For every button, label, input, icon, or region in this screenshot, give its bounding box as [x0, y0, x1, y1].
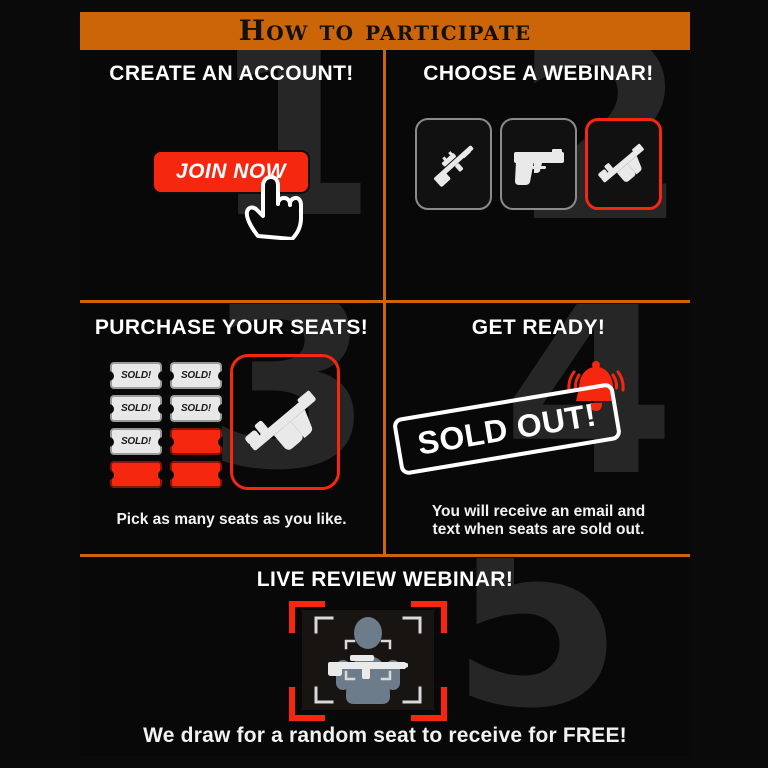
- infographic-poster: How to participate 1 CREATE AN ACCOUNT! …: [0, 0, 768, 768]
- step-caption-live-review-webinar: We draw for a random seat to receive for…: [80, 723, 690, 748]
- ticket-notch-left: [109, 371, 114, 381]
- ticket-notch-right: [218, 404, 223, 414]
- step-title-purchase-seats: PURCHASE YOUR SEATS!: [80, 316, 383, 340]
- ticket-label: SOLD!: [121, 370, 151, 381]
- step-panel-purchase-seats: 3 PURCHASE YOUR SEATS! SOLD! SOLD! SOLD!: [80, 304, 383, 554]
- ticket-notch-left: [169, 437, 174, 447]
- ticket-notch-right: [158, 371, 163, 381]
- step-title-get-ready: GET READY!: [387, 316, 690, 340]
- step-title-choose-webinar: CHOOSE A WEBINAR!: [387, 62, 690, 86]
- step-caption-get-ready-line-2: text when seats are sold out.: [387, 521, 690, 540]
- assault-rifle-icon: [237, 374, 333, 470]
- webinar-option-list: [415, 118, 663, 210]
- divider-horizontal-1: [80, 300, 690, 303]
- assault-rifle-icon: [593, 133, 655, 195]
- ticket-notch-right: [158, 404, 163, 414]
- pistol-icon: [508, 140, 570, 188]
- ticket-label: SOLD!: [121, 403, 151, 414]
- ticket-notch-right: [218, 437, 223, 447]
- ticket-sold[interactable]: SOLD!: [170, 362, 222, 389]
- sold-out-stamp: SOLD OUT!: [392, 382, 623, 476]
- webinar-option-assault-rifle[interactable]: [585, 118, 662, 210]
- ticket-grid: SOLD! SOLD! SOLD! SOLD!: [110, 362, 222, 488]
- ticket-notch-left: [169, 470, 174, 480]
- ticket-sold[interactable]: SOLD!: [170, 395, 222, 422]
- ticket-notch-right: [218, 371, 223, 381]
- ticket-available[interactable]: [170, 461, 222, 488]
- ticket-notch-right: [218, 470, 223, 480]
- ticket-notch-left: [109, 437, 114, 447]
- page-title: How to participate: [239, 17, 532, 45]
- pointing-hand-cursor-icon: [244, 174, 306, 240]
- ticket-sold[interactable]: SOLD!: [110, 395, 162, 422]
- step-title-live-review-webinar: LIVE REVIEW WEBINAR!: [80, 568, 690, 592]
- ticket-notch-left: [109, 470, 114, 480]
- step-panel-live-review-webinar: 5 LIVE REVIEW WEBINAR!: [80, 558, 690, 756]
- step-panel-choose-webinar: 2 CHOOSE A WEBINAR!: [387, 50, 690, 300]
- step-caption-purchase-seats: Pick as many seats as you like.: [80, 511, 383, 530]
- divider-horizontal-2: [80, 554, 690, 557]
- ticket-notch-right: [158, 437, 163, 447]
- ticket-sold[interactable]: SOLD!: [110, 362, 162, 389]
- step-caption-get-ready-line-1: You will receive an email and: [387, 503, 690, 522]
- ticket-notch-left: [169, 371, 174, 381]
- sold-out-label: SOLD OUT!: [415, 396, 599, 462]
- step-panel-create-account: 1 CREATE AN ACCOUNT! JOIN NOW: [80, 50, 383, 300]
- ticket-available[interactable]: [110, 461, 162, 488]
- ticket-sold[interactable]: SOLD!: [110, 428, 162, 455]
- ticket-label: SOLD!: [181, 403, 211, 414]
- sniper-rifle-icon: [423, 133, 485, 195]
- ticket-notch-left: [169, 404, 174, 414]
- step-panel-get-ready: 4 GET READY!: [387, 304, 690, 554]
- step-caption-get-ready: You will receive an email and text when …: [387, 503, 690, 540]
- target-viewfinder-icon: [288, 600, 448, 722]
- step-title-create-account: CREATE AN ACCOUNT!: [80, 62, 383, 86]
- webinar-option-pistol[interactable]: [500, 118, 577, 210]
- header-bar: How to participate: [80, 12, 690, 50]
- ticket-notch-right: [158, 470, 163, 480]
- steps-grid: 1 CREATE AN ACCOUNT! JOIN NOW 2 CHOOSE A…: [80, 50, 690, 756]
- join-now-area: JOIN NOW: [152, 150, 312, 196]
- ticket-label: SOLD!: [121, 436, 151, 447]
- ticket-label: SOLD!: [181, 370, 211, 381]
- selected-rifle-card[interactable]: [230, 354, 340, 490]
- webinar-option-sniper-rifle[interactable]: [415, 118, 492, 210]
- ticket-available[interactable]: [170, 428, 222, 455]
- ticket-notch-left: [109, 404, 114, 414]
